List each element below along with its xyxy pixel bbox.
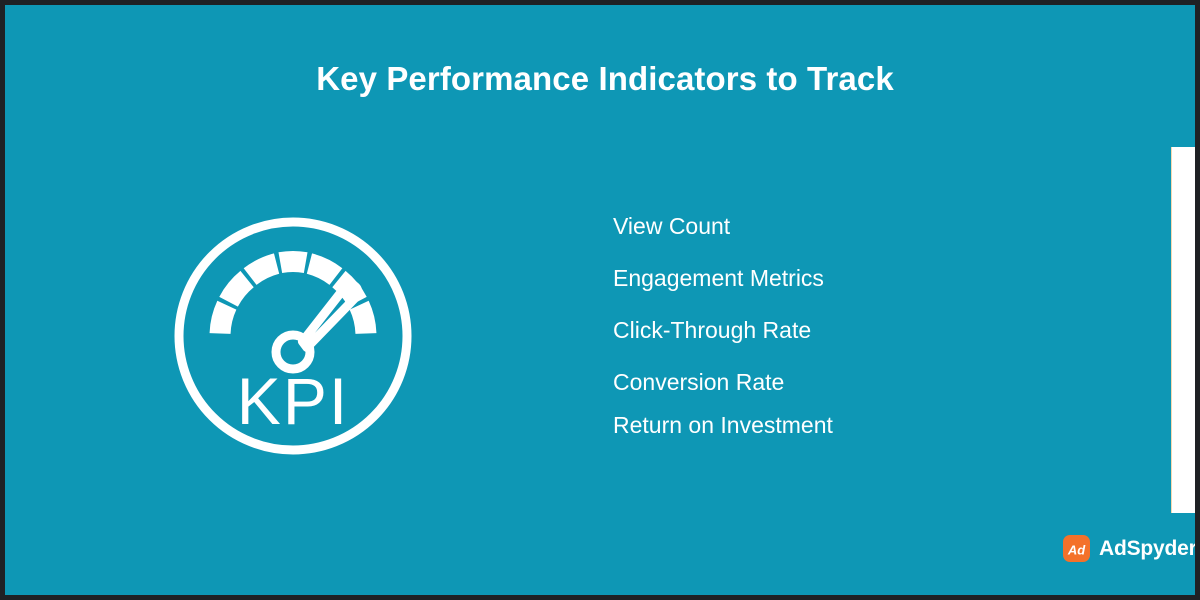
kpi-gauge-illustration: KPI [171, 214, 415, 458]
list-item: Click-Through Rate [613, 315, 1083, 345]
list-item: Return on Investment [613, 410, 1083, 440]
adspyder-mark-glyph: Ad [1063, 535, 1090, 562]
slide-canvas: Key Performance Indicators to Track [0, 0, 1200, 600]
adspyder-mark-text: Ad [1067, 543, 1086, 558]
list-item: Engagement Metrics [613, 263, 1083, 293]
list-item: View Count [613, 211, 1083, 241]
kpi-gauge-icon: KPI [171, 214, 415, 458]
brand-name: AdSpyder [1099, 535, 1197, 562]
page-title: Key Performance Indicators to Track [5, 57, 1200, 101]
adspyder-mark-icon: Ad [1063, 535, 1090, 562]
list-item: Conversion Rate [613, 367, 1083, 397]
brand-logo: Ad AdSpyder [1063, 535, 1197, 562]
kpi-list: View Count Engagement Metrics Click-Thro… [613, 211, 1083, 440]
gauge-arc-segments [220, 262, 366, 334]
gauge-kpi-label: KPI [237, 364, 349, 438]
side-panel [1171, 147, 1200, 513]
